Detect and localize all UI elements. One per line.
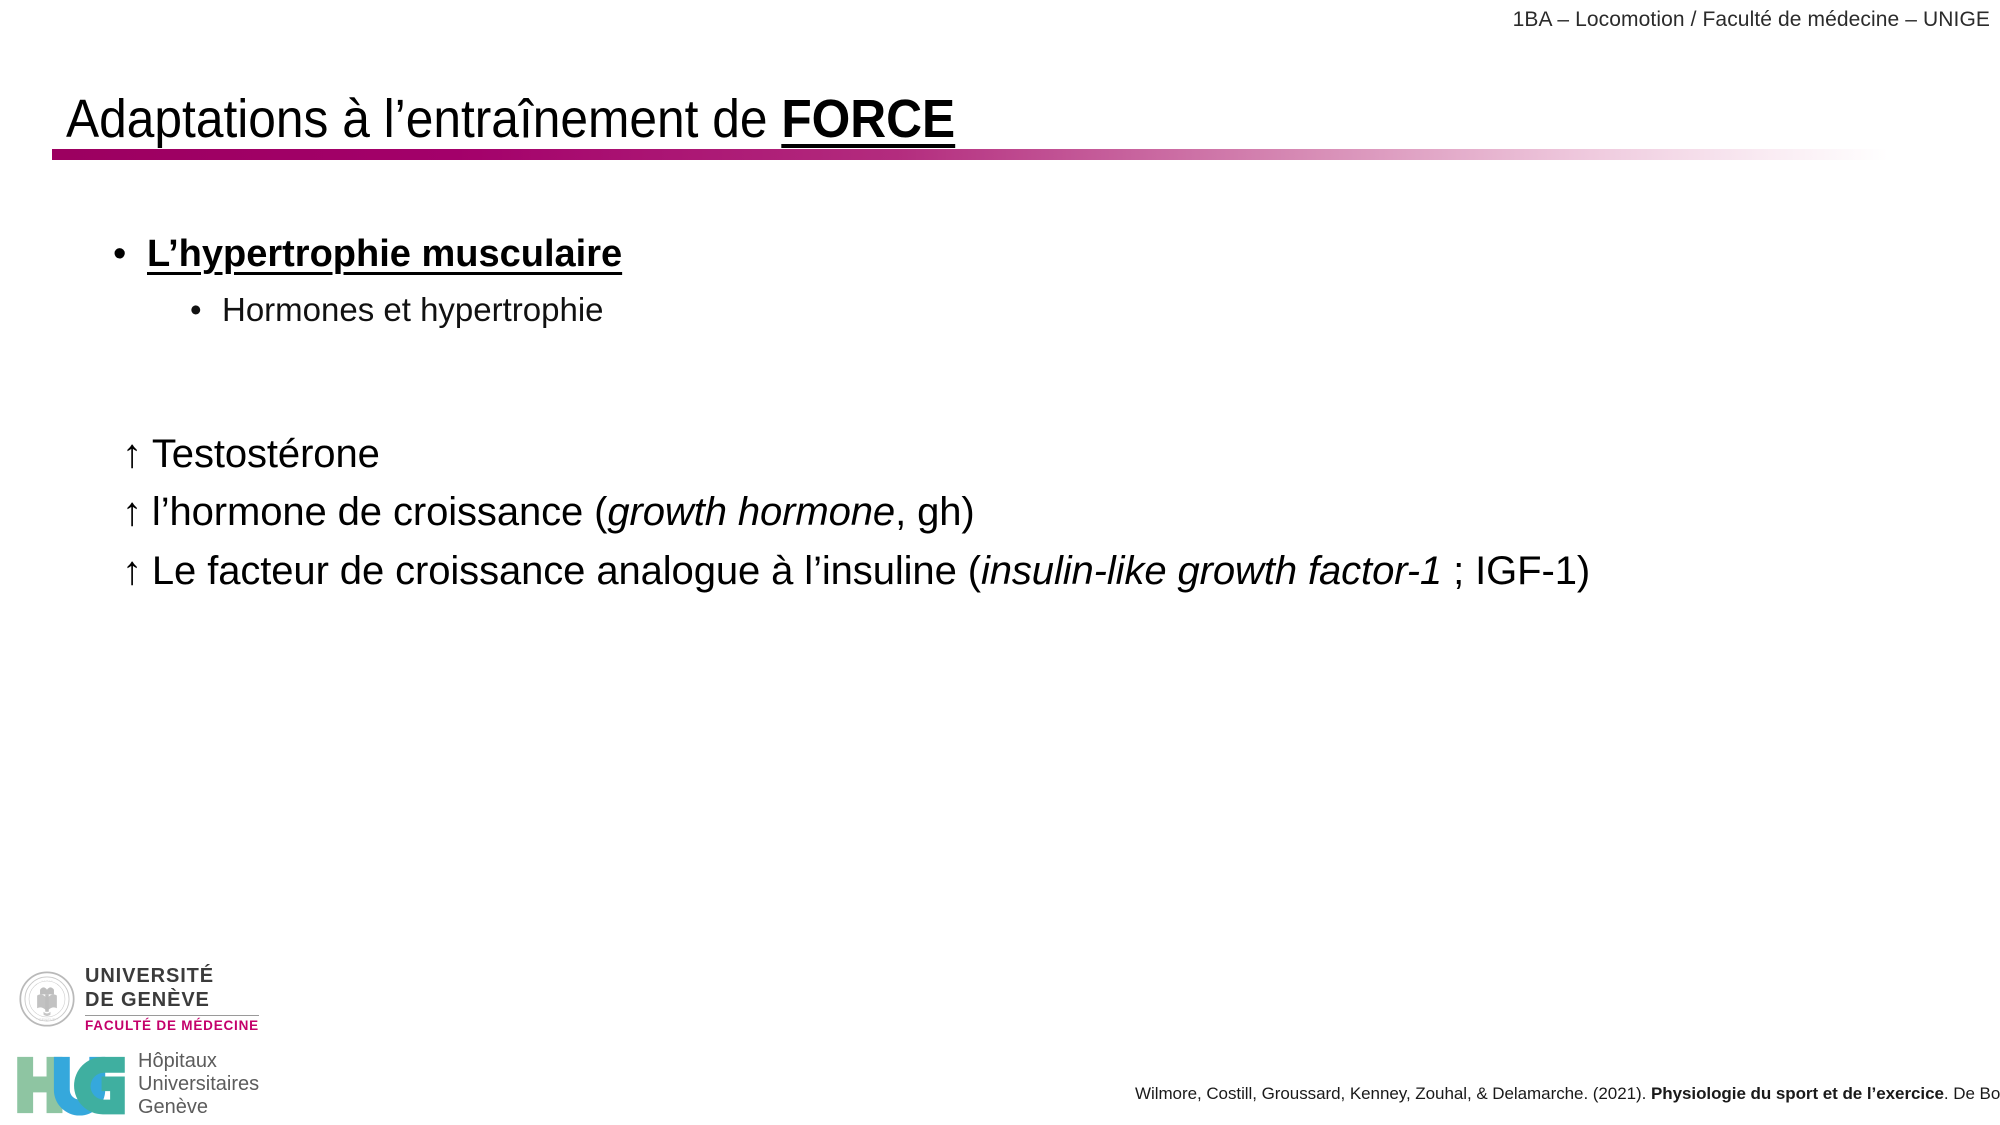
page-title-prefix: Adaptations à l’entraînement de [66,89,781,149]
citation-publisher: . De Boeck Supérieur. [1944,1084,2000,1103]
bullet-marker-icon: • [113,234,147,276]
unige-name-line2: DE GENÈVE [85,989,259,1013]
unige-divider [85,1015,259,1016]
hug-logo: Hôpitaux Universitaires Genève [16,1050,259,1120]
hormone-line-growth-hormone: ↑l’hormone de croissance (growth hormone… [122,488,975,537]
list-item-level2-label: Hormones et hypertrophie [222,291,604,328]
hormone-line-testosterone: ↑Testostérone [122,430,380,479]
unige-seal-icon: · · · · · · GENEVE · [18,970,76,1028]
hormone-line-text-part: Le facteur de croissance analogue à l’in… [152,549,981,593]
page-title-emphasis: FORCE [781,89,955,149]
list-item-level2: •Hormones et hypertrophie [190,292,604,328]
unige-wordmark: UNIVERSITÉ DE GENÈVE FACULTÉ DE MÉDECINE [85,965,259,1033]
page-title: Adaptations à l’entraînement de FORCE [66,92,955,146]
hug-words-line3: Genève [138,1096,259,1119]
source-citation: Wilmore, Costill, Groussard, Kenney, Zou… [1135,1084,2000,1104]
hormone-line-text-part: , gh) [895,490,975,534]
up-arrow-icon: ↑ [122,488,142,537]
hormone-line-igf1: ↑Le facteur de croissance analogue à l’i… [122,547,1882,596]
hormone-line-text-italic: growth hormone [607,490,895,534]
svg-text:· · · · ·: · · · · · [41,978,52,983]
svg-text:· GENEVE ·: · GENEVE · [36,1017,58,1022]
citation-authors-year: Wilmore, Costill, Groussard, Kenney, Zou… [1135,1084,1651,1103]
hormone-line-text: Testostérone [152,432,380,476]
up-arrow-icon: ↑ [122,430,142,479]
list-item-level1-label: L’hypertrophie musculaire [147,233,622,275]
citation-work-title: Physiologie du sport et de l’exercice [1651,1084,1944,1103]
hug-mark-icon [16,1054,126,1116]
hormone-line-text-part: l’hormone de croissance ( [152,490,608,534]
hormone-line-text-italic: insulin-like growth factor-1 [981,549,1442,593]
hug-words-line2: Universitaires [138,1073,259,1096]
unige-faculty-label: FACULTÉ DE MÉDECINE [85,1018,259,1033]
list-item-level1: •L’hypertrophie musculaire [113,234,622,276]
hug-words-line1: Hôpitaux [138,1050,259,1073]
unige-name-line1: UNIVERSITÉ [85,965,259,989]
title-divider [52,149,1888,160]
bullet-marker-icon: • [190,292,222,328]
hormone-line-text-part: ; IGF-1) [1442,549,1590,593]
up-arrow-icon: ↑ [122,547,142,596]
slide-header-course-info: 1BA – Locomotion / Faculté de médecine –… [1513,8,1990,32]
unige-logo: · · · · · · GENEVE · UNIVERSITÉ DE GENÈV… [18,965,259,1033]
hug-wordmark: Hôpitaux Universitaires Genève [138,1050,259,1120]
